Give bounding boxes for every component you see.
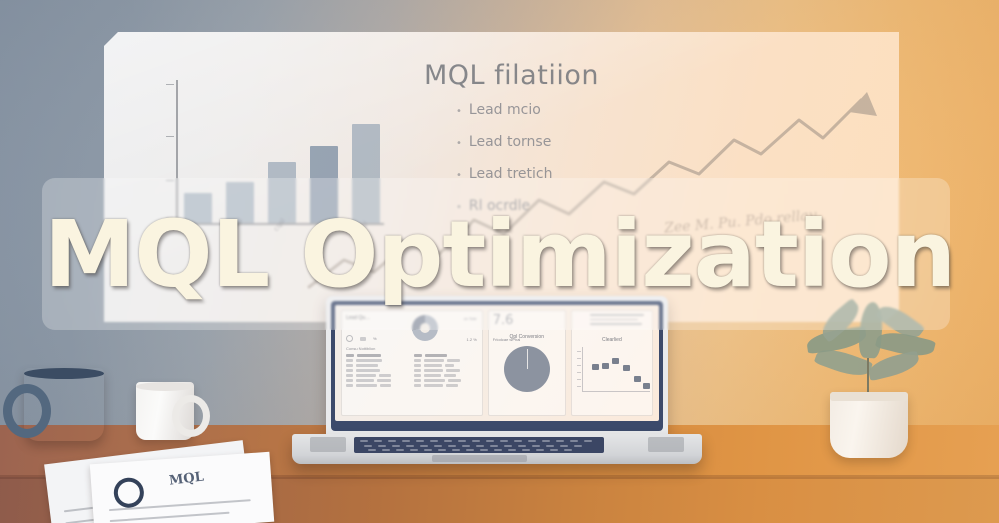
table-row: [346, 369, 409, 372]
paper-sheet-front: MQL: [90, 452, 274, 523]
scatter-chart: [576, 347, 648, 397]
table-row: [346, 374, 409, 377]
blue-coffee-mug: [24, 368, 104, 441]
scatter-y-axis: [582, 347, 583, 391]
scatter-x-axis: [582, 391, 650, 392]
scatter-point: [643, 383, 650, 389]
data-table[interactable]: [346, 354, 478, 389]
panel-title: Clearlied: [576, 337, 648, 343]
scatter-point: [592, 364, 599, 370]
page-title: MQL Optimization: [0, 178, 999, 330]
table-row: [414, 369, 477, 372]
mug-rim: [136, 382, 194, 391]
table-row: [346, 359, 409, 362]
white-coffee-mug: [136, 382, 194, 440]
plant-pot: [830, 392, 908, 458]
table-row: [414, 379, 477, 382]
laptop-keyboard[interactable]: [354, 437, 604, 453]
table-row: [414, 364, 477, 367]
laptop-trackpad[interactable]: [432, 455, 527, 462]
panel-subtitle: Consu Nottiblion: [346, 346, 478, 351]
tag-icon: [360, 337, 366, 341]
clock-icon: [346, 335, 353, 342]
table-right-half: [414, 354, 477, 389]
mug-handle: [3, 384, 51, 438]
mug-handle: [172, 395, 210, 437]
header-cell: [346, 354, 354, 357]
pie-chart: [504, 346, 550, 392]
table-header-row: [414, 354, 477, 357]
scatter-point: [602, 363, 609, 369]
header-cell: [357, 354, 381, 357]
scatter-point: [612, 358, 619, 364]
plant-pot-rim: [830, 392, 908, 401]
table-row: [346, 379, 409, 382]
table-row: [414, 359, 477, 362]
scatter-point: [634, 376, 641, 382]
mug-rim: [24, 368, 104, 379]
table-row: [346, 384, 409, 387]
table-row: [414, 374, 477, 377]
pie-label: Frlodcae wPhal: [493, 337, 521, 343]
y-tick: [166, 84, 174, 85]
speaker-grill-right: [648, 437, 684, 452]
hero-banner: cql nsql cqsl cql cql MQL filatiion • Le…: [0, 0, 999, 523]
table-left-half: [346, 354, 409, 389]
speaker-grill-left: [310, 437, 346, 452]
scatter-point: [623, 365, 630, 371]
kpi-value: 1.2 %: [467, 337, 477, 342]
paper-heading: MQL: [168, 470, 204, 489]
kpi-icon-row: %: [346, 335, 478, 342]
percent-label: %: [373, 336, 377, 341]
table-header-row: [346, 354, 409, 357]
laptop-base: [292, 434, 702, 464]
circle-mark-icon: [113, 477, 145, 509]
table-row: [414, 384, 477, 387]
table-row: [346, 364, 409, 367]
y-tick: [166, 136, 174, 137]
